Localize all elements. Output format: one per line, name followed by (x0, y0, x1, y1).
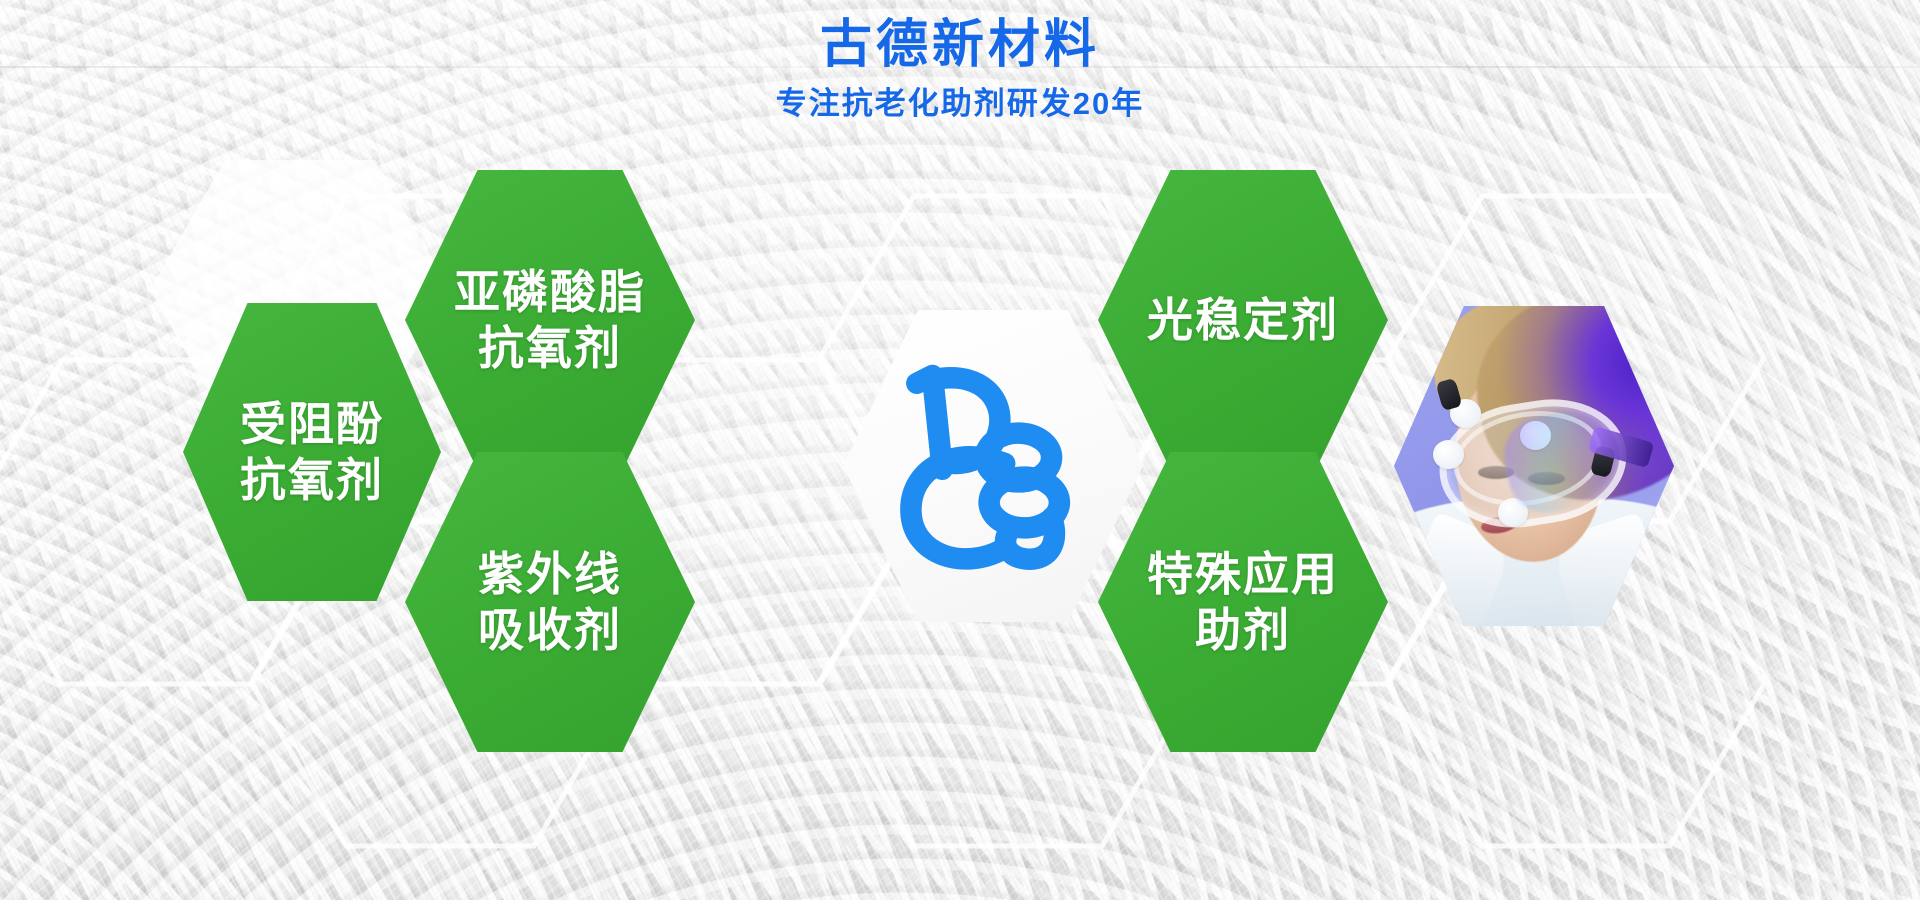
hexagon-label-line: 助剂 (1147, 602, 1339, 658)
honeycomb: 受阻酚 抗氧剂 亚磷酸脂 抗氧剂 紫外线 吸收剂 (0, 0, 1920, 900)
hexagon-label-line: 抗氧剂 (240, 452, 384, 508)
hexagon-label: 紫外线 吸收剂 (472, 546, 628, 658)
photo-goggle-vent (1433, 440, 1464, 469)
hexagon-label-line: 吸收剂 (478, 602, 622, 658)
banner-stage: 古德新材料 专注抗老化助剂研发20年 受阻酚 抗氧剂 (0, 0, 1920, 900)
hexagon-label: 亚磷酸脂 抗氧剂 (448, 264, 652, 376)
dog-monogram-logo (885, 354, 1101, 579)
hexagon-label: 受阻酚 抗氧剂 (234, 396, 390, 508)
hexagon-label-line: 亚磷酸脂 (454, 264, 646, 320)
hexagon-label: 特殊应用 助剂 (1141, 546, 1345, 658)
hexagon-label-line: 特殊应用 (1147, 546, 1339, 602)
hexagon-label-line: 受阻酚 (240, 396, 384, 452)
hexagon-label: 光稳定剂 (1141, 292, 1345, 348)
dog-monogram-icon (885, 354, 1101, 579)
hexagon-label-line: 光稳定剂 (1147, 292, 1339, 348)
hexagon-label-line: 紫外线 (478, 546, 622, 602)
hexagon-label-line: 抗氧剂 (454, 320, 646, 376)
